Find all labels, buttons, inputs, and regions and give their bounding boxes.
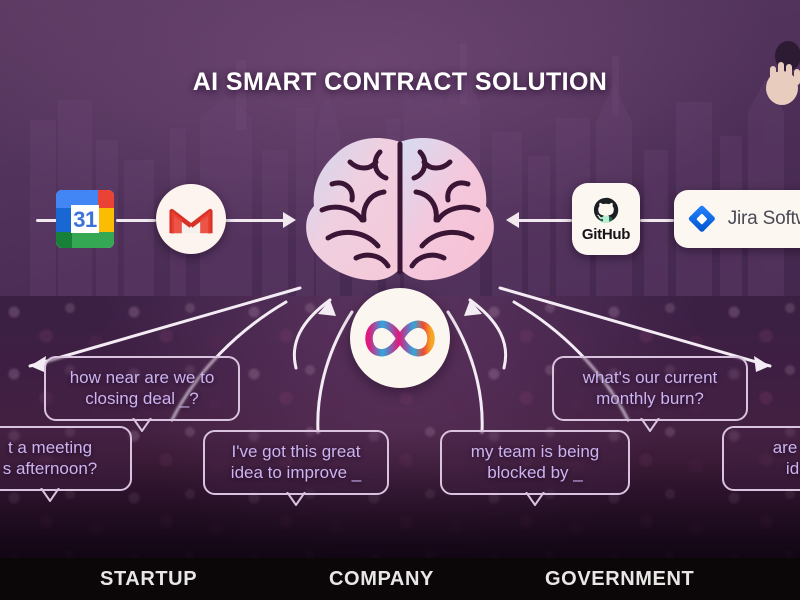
bubble-tail <box>40 488 60 502</box>
connector-line-right-1 <box>516 219 572 222</box>
bubble-line-2: closing deal _? <box>58 388 226 409</box>
bubble-tail <box>132 418 152 432</box>
connector-line-left-3 <box>224 219 286 222</box>
bubble-tail <box>640 418 660 432</box>
connector-line-left-2 <box>116 219 156 222</box>
speech-bubble-blocked: my team is being blocked by _ <box>440 430 630 495</box>
bubble-line-2: idea to improve _ <box>217 462 375 483</box>
bubble-line-1: are ther <box>736 437 800 458</box>
segment-label-company: COMPANY <box>329 568 434 591</box>
bubble-tail <box>525 492 545 506</box>
bubble-line-1: I've got this great <box>217 441 375 462</box>
bubble-line-1: my team is being <box>454 441 616 462</box>
bubble-tail <box>286 492 306 506</box>
speech-bubble-deal: how near are we to closing deal _? <box>44 356 240 421</box>
calendar-date-label: 31 <box>73 207 96 233</box>
page-title: AI SMART CONTRACT SOLUTION <box>0 68 800 97</box>
jira-icon[interactable]: Jira Software <box>674 190 800 248</box>
bubble-line-2: blocked by _ <box>454 462 616 483</box>
github-label: GitHub <box>582 226 630 243</box>
bubble-line-1: what's our current <box>566 367 734 388</box>
infinity-loop-icon <box>350 288 450 388</box>
gmail-icon[interactable] <box>156 184 226 254</box>
bubble-line-2: s afternoon? <box>0 458 118 479</box>
google-calendar-icon[interactable]: 31 <box>54 188 116 250</box>
bubble-line-2: monthly burn? <box>566 388 734 409</box>
brain-icon <box>292 132 508 292</box>
jira-label: Jira Software <box>728 208 800 230</box>
github-icon[interactable]: GitHub <box>572 183 640 255</box>
bottom-segment-bar: STARTUP COMPANY GOVERNMENT <box>0 558 800 600</box>
bubble-line-1: t a meeting <box>0 437 118 458</box>
speech-bubble-meeting: t a meeting s afternoon? <box>0 426 132 491</box>
segment-label-startup: STARTUP <box>100 568 197 591</box>
speech-bubble-burn: what's our current monthly burn? <box>552 356 748 421</box>
speech-bubble-there: are ther idea <box>722 426 800 491</box>
bubble-line-2: idea <box>736 458 800 479</box>
bubble-line-1: how near are we to <box>58 367 226 388</box>
connector-line-right-2 <box>640 219 674 222</box>
speech-bubble-idea: I've got this great idea to improve _ <box>203 430 389 495</box>
segment-label-government: GOVERNMENT <box>545 568 694 591</box>
slide-canvas: AI SMART CONTRACT SOLUTION 31 <box>0 0 800 600</box>
